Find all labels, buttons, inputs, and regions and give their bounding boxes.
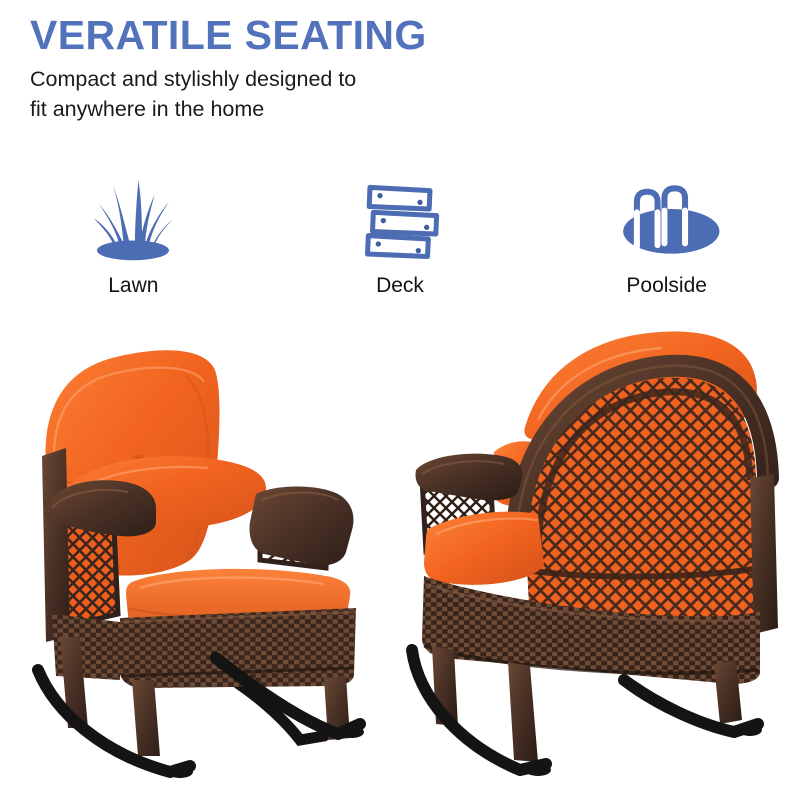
feature-label-lawn: Lawn (108, 274, 158, 298)
page-title: VERATILE SEATING (30, 14, 570, 57)
feature-label-deck: Deck (376, 274, 424, 298)
feature-label-poolside: Poolside (626, 274, 707, 298)
frame-back-post-left (42, 448, 70, 642)
pool-ladder-icon (611, 168, 723, 264)
frame-post-right (750, 474, 778, 634)
grass-icon (79, 168, 187, 264)
header-block: VERATILE SEATING Compact and stylishly d… (30, 14, 570, 124)
infographic-canvas: VERATILE SEATING Compact and stylishly d… (0, 0, 800, 800)
product-chair-front-view (8, 336, 400, 788)
feature-lawn: Lawn (0, 168, 267, 308)
deck-planks-icon (350, 168, 450, 264)
product-image-stage (0, 318, 800, 800)
page-subtitle: Compact and stylishly designed to fit an… (30, 65, 450, 124)
feature-deck: Deck (267, 168, 534, 308)
feature-poolside: Poolside (533, 168, 800, 308)
subtitle-line-1: Compact and stylishly designed to (30, 67, 356, 91)
arm-rail-right (250, 487, 354, 566)
product-chair-rear-view (398, 328, 798, 788)
feature-icon-row: Lawn (0, 168, 800, 308)
subtitle-line-2: fit anywhere in the home (30, 97, 264, 121)
